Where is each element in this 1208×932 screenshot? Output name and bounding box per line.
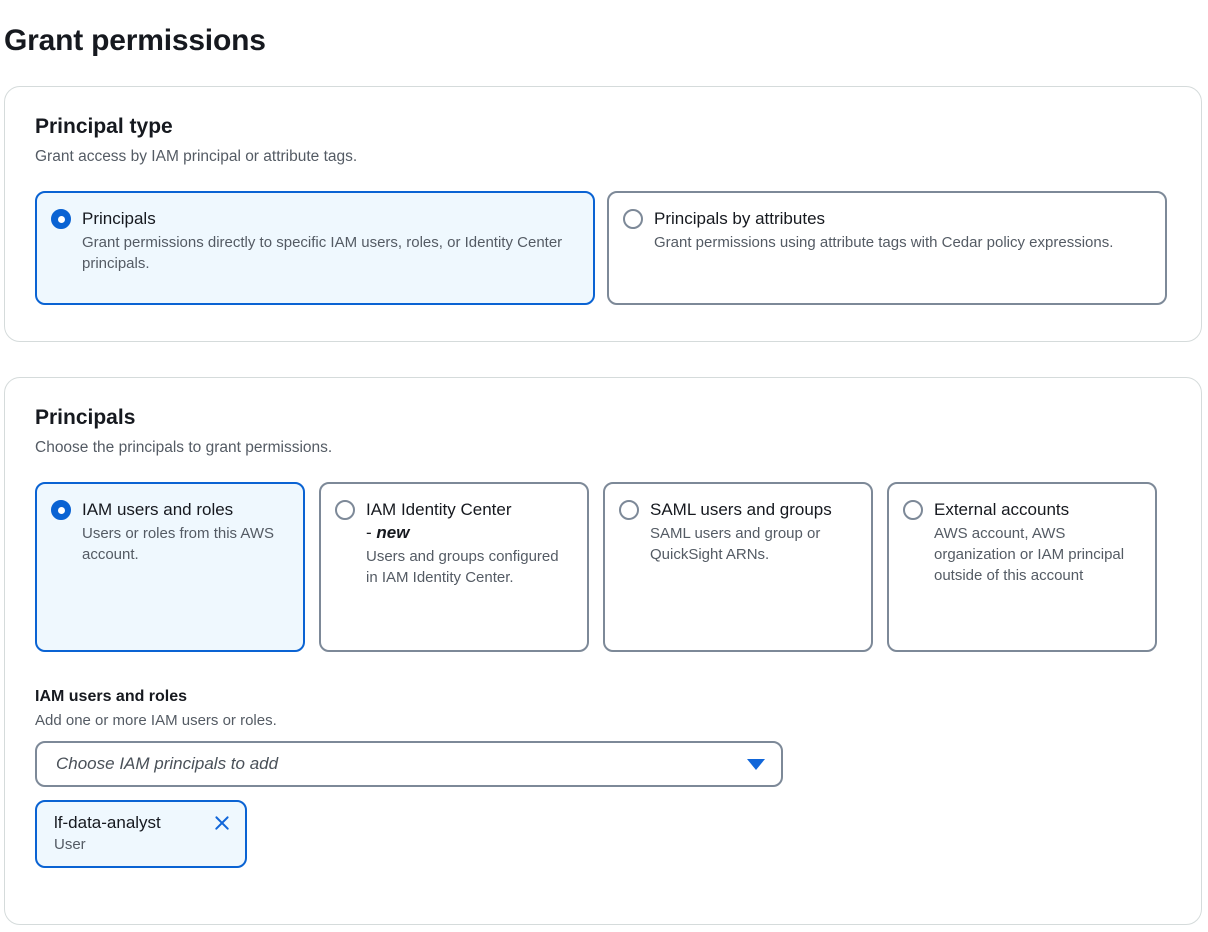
field-label: IAM users and roles [35, 686, 1171, 707]
new-badge: new [376, 523, 409, 542]
principals-option-saml-users-and-groups[interactable]: SAML users and groups SAML users and gro… [603, 482, 873, 652]
principal-type-option-principals-by-attributes[interactable]: Principals by attributes Grant permissio… [607, 191, 1167, 305]
principals-option-external-accounts[interactable]: External accounts AWS account, AWS organ… [887, 482, 1157, 652]
option-description: Grant permissions using attribute tags w… [654, 232, 1149, 253]
principals-description: Choose the principals to grant permissio… [35, 437, 1171, 459]
option-description: SAML users and group or QuickSight ARNs. [650, 523, 855, 565]
option-description: Grant permissions directly to specific I… [82, 232, 577, 274]
principal-type-heading: Principal type [35, 113, 1171, 140]
option-badge-line: - new [366, 521, 571, 544]
field-hint: Add one or more IAM users or roles. [35, 710, 1171, 731]
radio-icon[interactable] [51, 209, 71, 229]
option-description: AWS account, AWS organization or IAM pri… [934, 523, 1139, 586]
option-description: Users or roles from this AWS account. [82, 523, 287, 565]
radio-icon[interactable] [619, 500, 639, 520]
principals-panel: Principals Choose the principals to gran… [4, 377, 1202, 925]
principals-heading: Principals [35, 404, 1171, 431]
principals-options: IAM users and roles Users or roles from … [35, 482, 1171, 652]
principals-option-iam-users-and-roles[interactable]: IAM users and roles Users or roles from … [35, 482, 305, 652]
radio-icon[interactable] [623, 209, 643, 229]
select-placeholder: Choose IAM principals to add [56, 753, 747, 775]
iam-principals-field: IAM users and roles Add one or more IAM … [35, 686, 1171, 868]
radio-icon[interactable] [51, 500, 71, 520]
page-title: Grant permissions [0, 0, 1208, 60]
option-label: IAM Identity Center [366, 500, 512, 519]
iam-principals-select[interactable]: Choose IAM principals to add [35, 741, 783, 787]
radio-icon[interactable] [903, 500, 923, 520]
option-label: Principals [82, 209, 156, 228]
option-label: External accounts [934, 500, 1069, 519]
principal-type-panel: Principal type Grant access by IAM princ… [4, 86, 1202, 342]
radio-icon[interactable] [335, 500, 355, 520]
option-description: Users and groups configured in IAM Ident… [366, 546, 571, 588]
token-type: User [54, 835, 232, 855]
principal-type-description: Grant access by IAM principal or attribu… [35, 146, 1171, 168]
grant-permissions-page: Grant permissions Principal type Grant a… [0, 0, 1208, 932]
token-name: lf-data-analyst [54, 811, 161, 834]
option-label: Principals by attributes [654, 209, 825, 228]
close-icon[interactable] [212, 813, 232, 833]
option-label: SAML users and groups [650, 500, 832, 519]
option-label: IAM users and roles [82, 500, 233, 519]
selected-principal-token[interactable]: lf-data-analyst User [35, 800, 247, 868]
principal-type-option-principals[interactable]: Principals Grant permissions directly to… [35, 191, 595, 305]
chevron-down-icon[interactable] [747, 759, 765, 770]
principal-type-options: Principals Grant permissions directly to… [35, 191, 1171, 305]
badge-prefix: - [366, 523, 376, 542]
principals-option-iam-identity-center[interactable]: IAM Identity Center - new Users and grou… [319, 482, 589, 652]
